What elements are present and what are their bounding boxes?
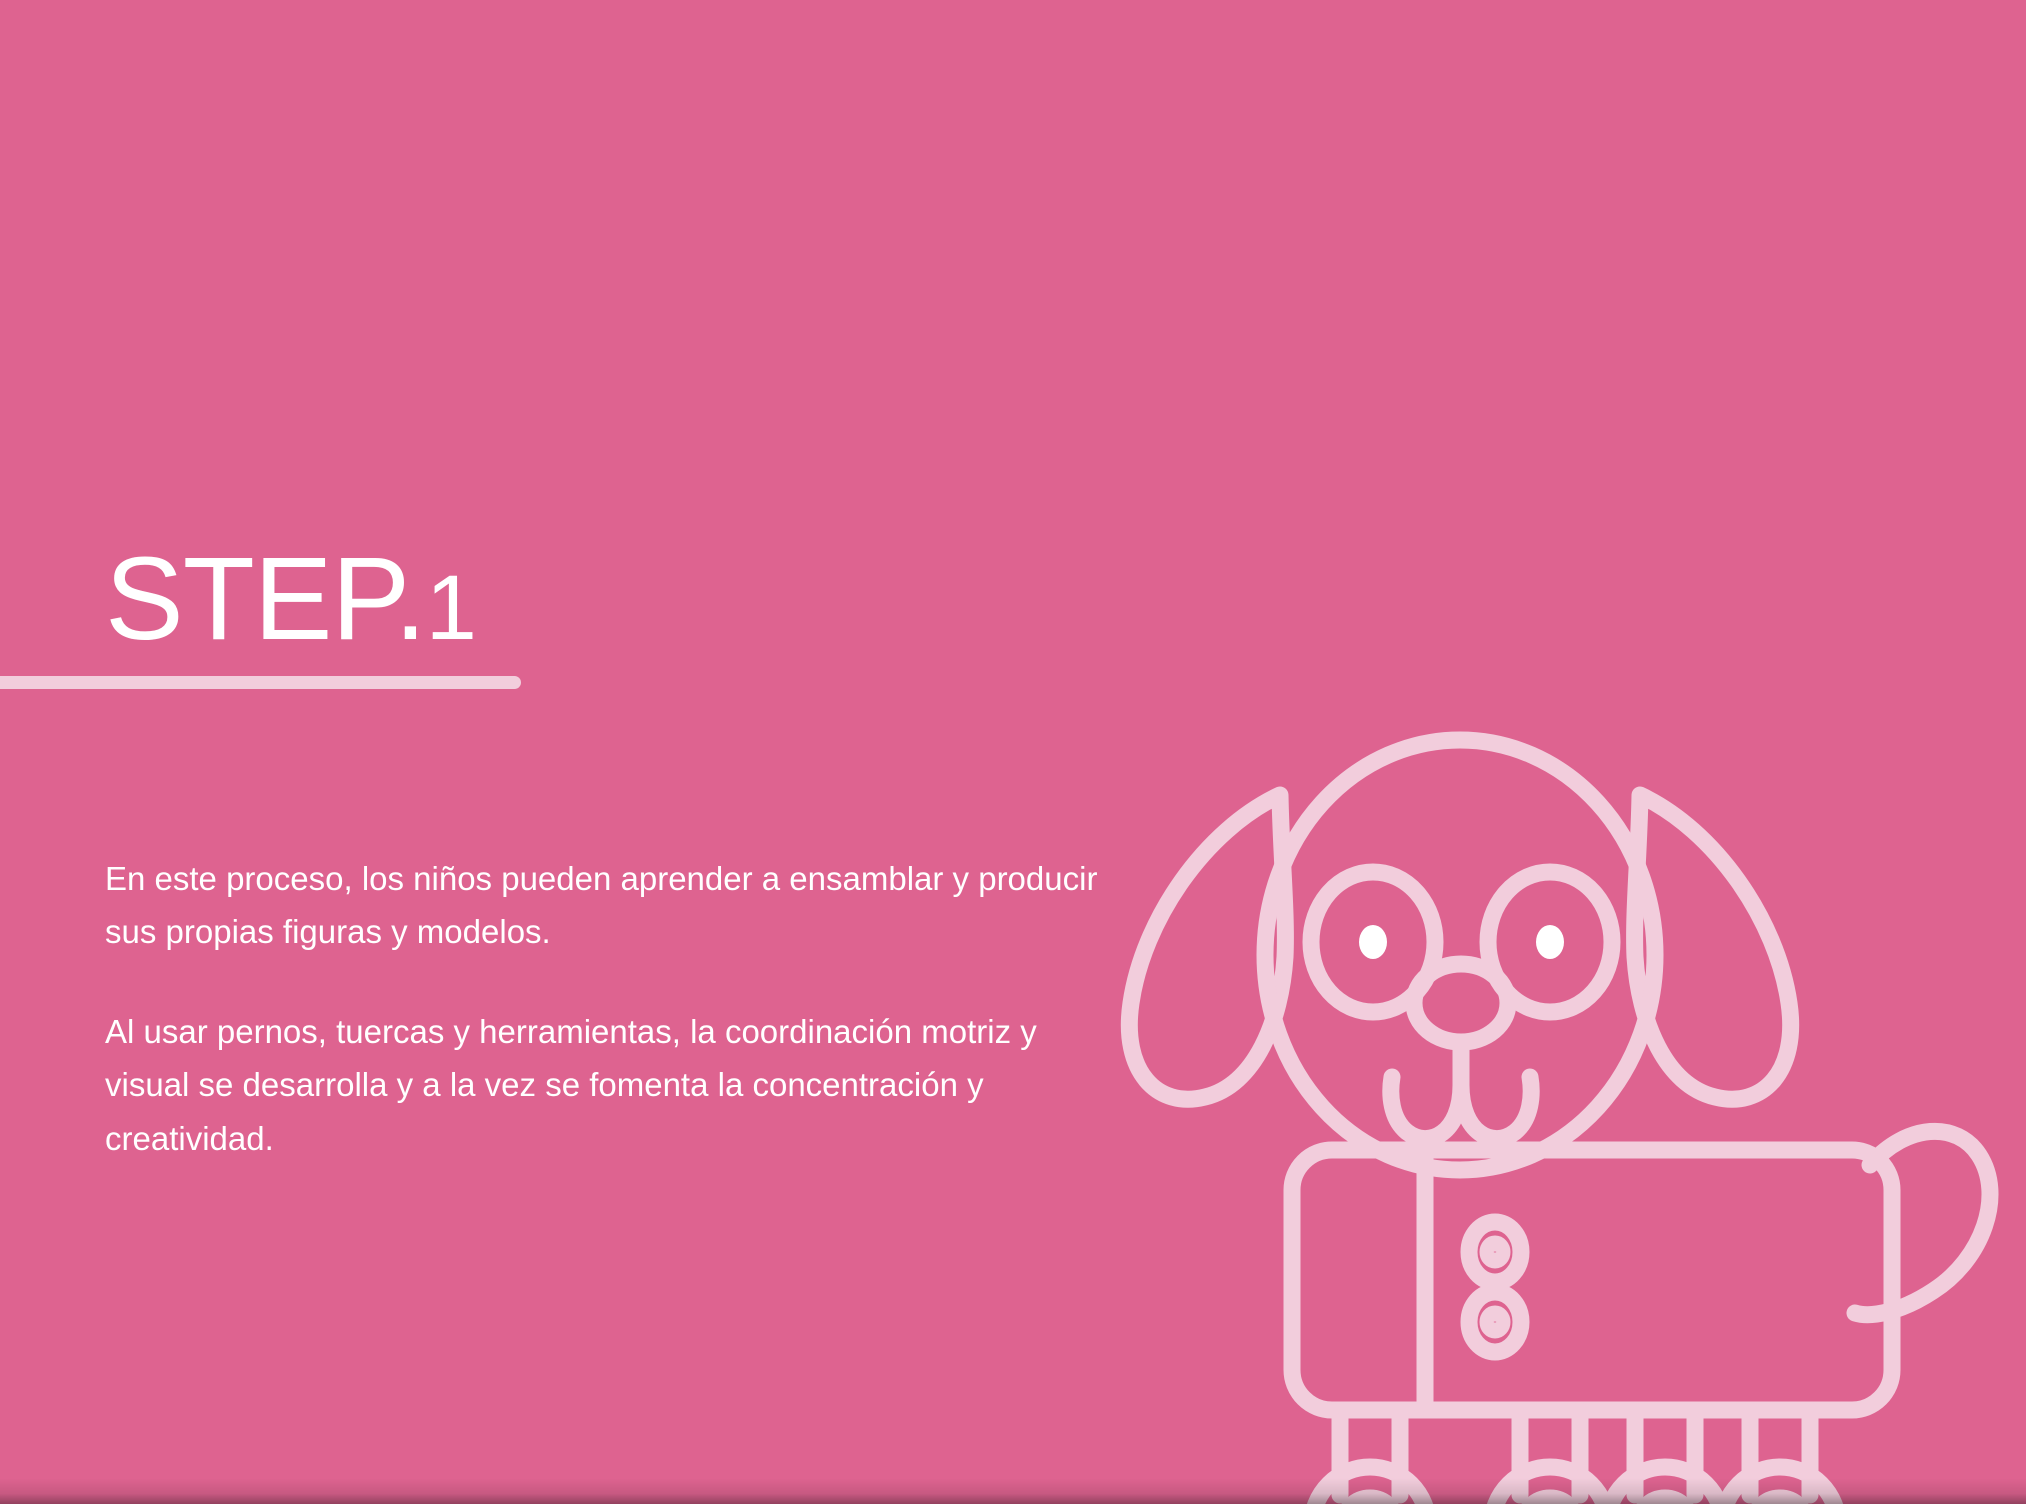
body-paragraph-2: Al usar pernos, tuercas y herramientas, …: [105, 1005, 1105, 1165]
title-underline-rule: [0, 676, 521, 689]
mouth-right-curve-icon: [1461, 1077, 1531, 1139]
front-right-foot-inner-icon: [1523, 1498, 1577, 1504]
toy-dog-illustration: [1095, 735, 2026, 1504]
page-title-label: STEP.: [105, 533, 426, 665]
back-left-leg-icon: [1635, 1411, 1695, 1495]
text-content-block: STEP.1 En este proceso, los niños pueden…: [105, 540, 1105, 1165]
back-right-leg-icon: [1750, 1411, 1810, 1495]
mouth-left-curve-icon: [1391, 1077, 1461, 1139]
body-paragraph-1: En este proceso, los niños pueden aprend…: [105, 852, 1105, 959]
front-left-leg-icon: [1340, 1411, 1400, 1495]
body-icon: [1292, 1150, 1892, 1410]
back-left-foot-inner-icon: [1638, 1498, 1692, 1504]
page-title-number: 1: [426, 557, 477, 659]
toy-dog-svg: [1095, 735, 2026, 1504]
bolt-upper-center-icon: [1488, 1244, 1502, 1260]
bolt-lower-center-icon: [1488, 1314, 1502, 1330]
front-right-leg-icon: [1520, 1411, 1580, 1495]
nose-icon: [1414, 964, 1508, 1042]
right-eye-pupil-icon: [1536, 925, 1564, 959]
bolt-upper-icon: [1469, 1222, 1521, 1282]
slide-canvas: STEP.1 En este proceso, los niños pueden…: [0, 0, 2026, 1504]
page-title: STEP.1: [105, 540, 1105, 658]
left-eye-pupil-icon: [1359, 925, 1387, 959]
front-left-foot-inner-icon: [1343, 1498, 1397, 1504]
bolt-lower-icon: [1469, 1292, 1521, 1352]
back-right-foot-inner-icon: [1753, 1498, 1807, 1504]
